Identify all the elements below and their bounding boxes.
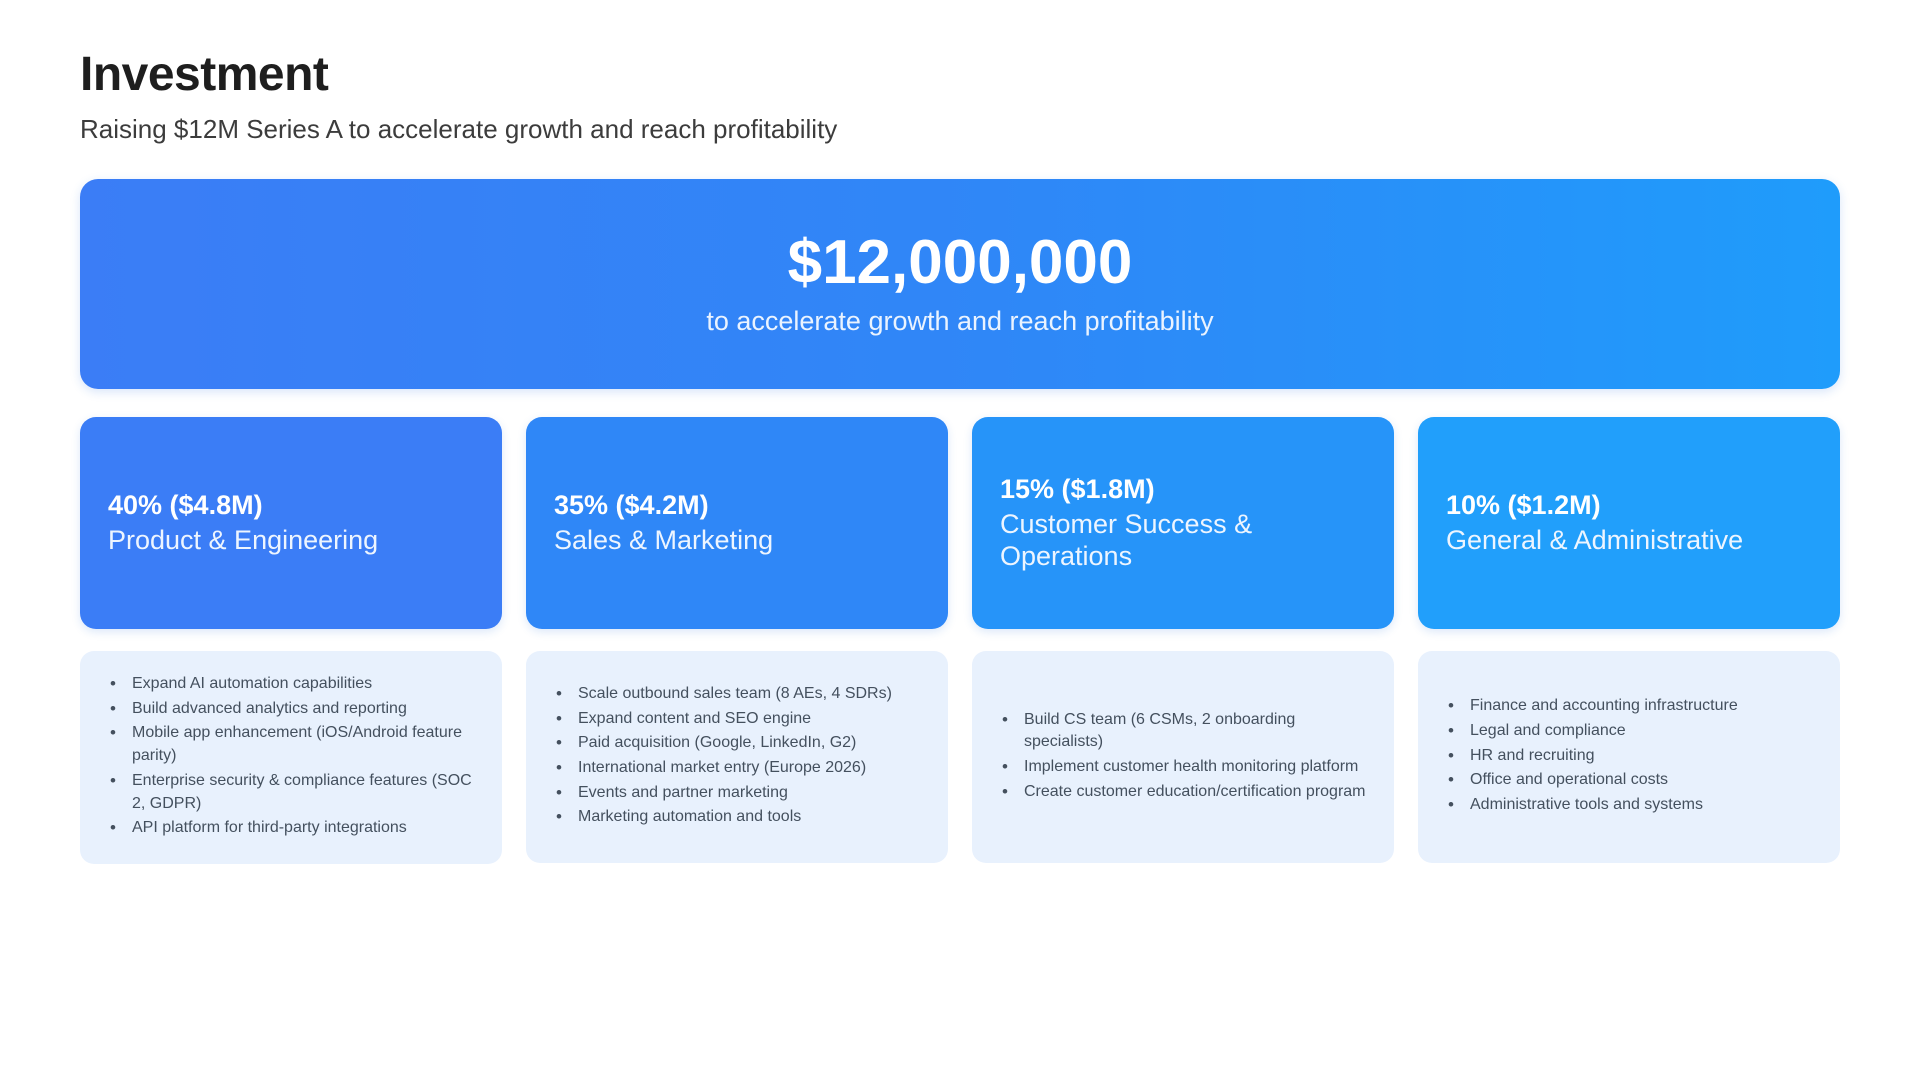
list-item: Office and operational costs [1444, 769, 1814, 792]
allocation-label: Customer Success & Operations [1000, 508, 1366, 573]
list-item: Mobile app enhancement (iOS/Android feat… [106, 722, 476, 767]
allocation-label: General & Administrative [1446, 524, 1812, 556]
list-item: Implement customer health monitoring pla… [998, 756, 1368, 779]
list-item: Create customer education/certification … [998, 781, 1368, 804]
allocation-card[interactable]: 35% ($4.2M) Sales & Marketing [526, 417, 948, 629]
list-item: Legal and compliance [1444, 720, 1814, 743]
hero-caption: to accelerate growth and reach profitabi… [706, 305, 1213, 337]
detail-card: Finance and accounting infrastructureLeg… [1418, 651, 1840, 863]
allocation-amount: 40% ($4.8M) [108, 489, 474, 522]
allocation-card[interactable]: 40% ($4.8M) Product & Engineering [80, 417, 502, 629]
allocation-cards-row: 40% ($4.8M) Product & Engineering 35% ($… [80, 417, 1840, 629]
list-item: Marketing automation and tools [552, 806, 922, 829]
list-item: API platform for third-party integration… [106, 817, 476, 840]
allocation-label: Product & Engineering [108, 524, 474, 556]
list-item: Administrative tools and systems [1444, 794, 1814, 817]
investment-slide: Investment Raising $12M Series A to acce… [0, 0, 1920, 1080]
hero-amount: $12,000,000 [788, 230, 1133, 295]
detail-cards-row: Expand AI automation capabilitiesBuild a… [80, 651, 1840, 864]
detail-card: Scale outbound sales team (8 AEs, 4 SDRs… [526, 651, 948, 863]
detail-list: Scale outbound sales team (8 AEs, 4 SDRs… [552, 683, 922, 831]
list-item: Build CS team (6 CSMs, 2 onboarding spec… [998, 709, 1368, 754]
list-item: HR and recruiting [1444, 745, 1814, 768]
list-item: Expand AI automation capabilities [106, 673, 476, 696]
list-item: Paid acquisition (Google, LinkedIn, G2) [552, 732, 922, 755]
list-item: Build advanced analytics and reporting [106, 698, 476, 721]
allocation-amount: 15% ($1.8M) [1000, 473, 1366, 506]
slide-header: Investment Raising $12M Series A to acce… [80, 48, 1840, 145]
list-item: Events and partner marketing [552, 782, 922, 805]
detail-card: Expand AI automation capabilitiesBuild a… [80, 651, 502, 864]
allocation-card[interactable]: 10% ($1.2M) General & Administrative [1418, 417, 1840, 629]
detail-list: Finance and accounting infrastructureLeg… [1444, 695, 1814, 819]
allocation-card[interactable]: 15% ($1.8M) Customer Success & Operation… [972, 417, 1394, 629]
page-title: Investment [80, 48, 1840, 102]
list-item: Scale outbound sales team (8 AEs, 4 SDRs… [552, 683, 922, 706]
list-item: Expand content and SEO engine [552, 708, 922, 731]
list-item: International market entry (Europe 2026) [552, 757, 922, 780]
detail-list: Expand AI automation capabilitiesBuild a… [106, 673, 476, 842]
page-subtitle: Raising $12M Series A to accelerate grow… [80, 114, 1840, 145]
funding-hero-banner: $12,000,000 to accelerate growth and rea… [80, 179, 1840, 389]
allocation-label: Sales & Marketing [554, 524, 920, 556]
allocation-amount: 10% ($1.2M) [1446, 489, 1812, 522]
list-item: Enterprise security & compliance feature… [106, 770, 476, 815]
allocation-amount: 35% ($4.2M) [554, 489, 920, 522]
detail-list: Build CS team (6 CSMs, 2 onboarding spec… [998, 709, 1368, 806]
detail-card: Build CS team (6 CSMs, 2 onboarding spec… [972, 651, 1394, 863]
list-item: Finance and accounting infrastructure [1444, 695, 1814, 718]
